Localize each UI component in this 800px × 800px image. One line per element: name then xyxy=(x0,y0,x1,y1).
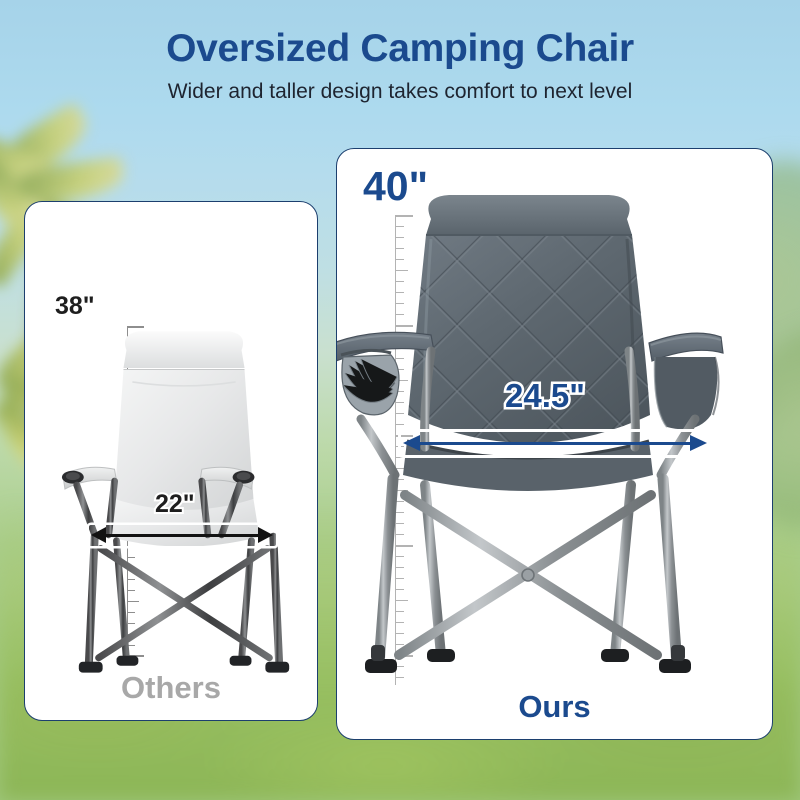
width-dimension-ours: 24.5" xyxy=(505,377,585,415)
comparison-panel-others: 38" 22" Others xyxy=(24,201,318,721)
header: Oversized Camping Chair Wider and taller… xyxy=(0,0,800,125)
panel-label-ours: Ours xyxy=(337,689,772,725)
panel-label-others: Others xyxy=(25,670,317,706)
page-title: Oversized Camping Chair xyxy=(0,28,800,71)
comparison-panel-ours: 40" 24.5" Ours xyxy=(336,148,773,740)
page-subtitle: Wider and taller design takes comfort to… xyxy=(0,80,800,104)
height-dimension-others: 38" xyxy=(55,292,95,321)
width-arrow-ours xyxy=(403,434,707,452)
height-dimension-ours: 40" xyxy=(363,163,428,210)
width-dimension-others: 22" xyxy=(155,490,195,519)
mesh-cup-holder-icon xyxy=(341,350,399,414)
width-arrow-others xyxy=(91,527,273,543)
infographic-canvas: Oversized Camping Chair Wider and taller… xyxy=(0,0,800,800)
